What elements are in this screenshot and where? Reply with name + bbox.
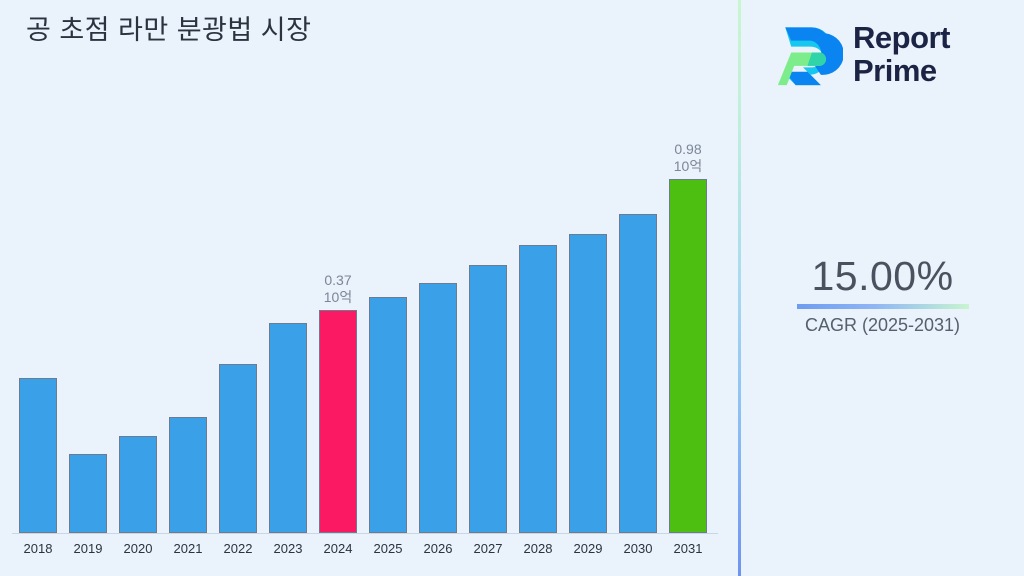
logo-line-2: Prime — [853, 54, 950, 87]
bar-rect-2021 — [169, 417, 207, 533]
x-axis-tick-2030: 2030 — [619, 541, 657, 556]
cagr-block: 15.00% CAGR (2025-2031) — [741, 252, 1024, 336]
bar-2024: 0.3710억 — [319, 310, 357, 533]
bar-2021 — [169, 417, 207, 533]
bar-rect-2027 — [469, 265, 507, 533]
x-axis-tick-2022: 2022 — [219, 541, 257, 556]
bar-rect-2024 — [319, 310, 357, 533]
bar-rect-2019 — [69, 454, 107, 533]
bar-rect-2018 — [19, 378, 57, 533]
bar-value-unit-2024: 10억 — [305, 289, 371, 306]
x-axis-tick-2019: 2019 — [69, 541, 107, 556]
report-prime-logo: Report Prime — [769, 14, 1009, 94]
x-axis-tick-2026: 2026 — [419, 541, 457, 556]
bar-rect-2030 — [619, 214, 657, 533]
x-axis-tick-2020: 2020 — [119, 541, 157, 556]
cagr-caption: CAGR (2025-2031) — [741, 314, 1024, 336]
bar-rect-2029 — [569, 234, 607, 533]
bar-rect-2028 — [519, 245, 557, 533]
bar-2028 — [519, 245, 557, 533]
x-axis-tick-2023: 2023 — [269, 541, 307, 556]
bar-rect-2023 — [269, 323, 307, 533]
bar-rect-2026 — [419, 283, 457, 533]
bar-2022 — [219, 364, 257, 533]
bar-value-number-2031: 0.98 — [655, 141, 721, 158]
logo-mark-icon — [769, 17, 843, 91]
x-axis-tick-2021: 2021 — [169, 541, 207, 556]
x-axis-tick-2031: 2031 — [669, 541, 707, 556]
bar-chart-plot-area: 2018201920202021202220230.3710억202420252… — [0, 0, 738, 576]
bar-rect-2022 — [219, 364, 257, 533]
bar-value-label-2024: 0.3710억 — [305, 272, 371, 306]
x-axis-tick-2028: 2028 — [519, 541, 557, 556]
x-axis-tick-2018: 2018 — [19, 541, 57, 556]
bar-2019 — [69, 454, 107, 533]
bar-value-unit-2031: 10억 — [655, 158, 721, 175]
chart-screenshot-root: 공 초점 라만 분광법 시장 2018201920202021202220230… — [0, 0, 1024, 576]
bar-rect-2031 — [669, 179, 707, 533]
bar-rect-2025 — [369, 297, 407, 533]
bar-2018 — [19, 378, 57, 533]
bar-value-label-2031: 0.9810억 — [655, 141, 721, 175]
bar-2026 — [419, 283, 457, 533]
x-axis-tick-2024: 2024 — [319, 541, 357, 556]
logo-wordmark: Report Prime — [853, 21, 950, 87]
cagr-divider-rule — [797, 304, 969, 309]
bar-2020 — [119, 436, 157, 533]
x-axis-tick-2025: 2025 — [369, 541, 407, 556]
side-panel: Report Prime 15.00% CAGR (2025-2031) — [741, 0, 1024, 576]
bar-value-number-2024: 0.37 — [305, 272, 371, 289]
chart-panel: 공 초점 라만 분광법 시장 2018201920202021202220230… — [0, 0, 738, 576]
bar-2027 — [469, 265, 507, 533]
bar-2029 — [569, 234, 607, 533]
bar-2023 — [269, 323, 307, 533]
x-axis-tick-2029: 2029 — [569, 541, 607, 556]
cagr-value: 15.00% — [741, 252, 1024, 300]
logo-line-1: Report — [853, 21, 950, 54]
bar-2031: 0.9810억 — [669, 179, 707, 533]
x-axis-tick-2027: 2027 — [469, 541, 507, 556]
x-axis-baseline — [12, 533, 718, 534]
bar-rect-2020 — [119, 436, 157, 533]
bar-2030 — [619, 214, 657, 533]
bar-2025 — [369, 297, 407, 533]
